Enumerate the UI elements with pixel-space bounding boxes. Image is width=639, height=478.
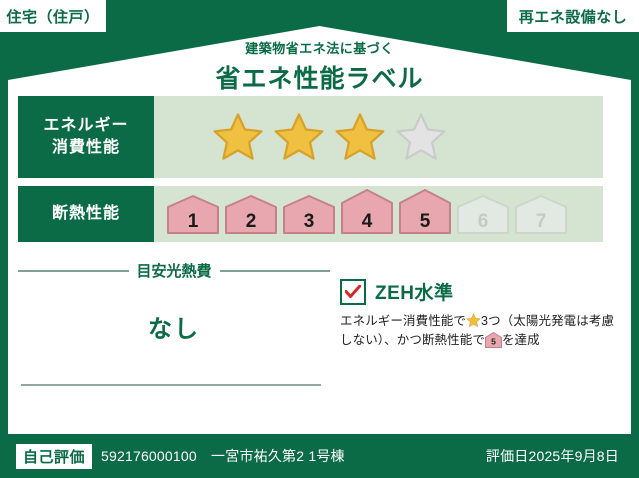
zeh-title: ZEH水準	[375, 278, 454, 305]
insulation-level-number: 7	[536, 211, 547, 232]
insulation-level-6: 6	[456, 195, 510, 235]
zeh-desc-star-count: 3つ（太陽光発電	[481, 314, 576, 328]
zeh-desc-part3: を達成	[502, 333, 540, 347]
badge-dwelling-type: 住宅（住戸）	[0, 0, 108, 34]
utility-cost-heading-text: 目安光熱費	[137, 260, 212, 281]
star-filled-icon	[273, 112, 325, 162]
svg-text:5: 5	[491, 337, 496, 347]
label-footer: 自己評価 592176000100 一宮市祐久第2 1号棟 評価日2025年9月…	[0, 434, 639, 478]
energy-performance-label: エネルギー 消費性能	[18, 96, 154, 178]
heading-rule-right	[220, 270, 331, 272]
badge-renewable-energy: 再エネ設備なし	[505, 0, 639, 34]
utility-cost-bottom-rule	[21, 384, 321, 386]
building-id-and-address: 592176000100 一宮市祐久第2 1号棟	[101, 446, 345, 466]
inline-star-icon	[466, 313, 481, 328]
zeh-desc-part1: エネルギー消費性能で	[340, 314, 466, 328]
zeh-column: ZEH水準 エネルギー消費性能で 3つ（太陽光発電は考慮しない）、かつ断熱性能で…	[340, 278, 615, 351]
energy-performance-row: エネルギー 消費性能	[18, 96, 603, 178]
insulation-level-5: 5	[398, 189, 452, 235]
star-filled-icon	[212, 112, 264, 162]
badge-renewable-energy-label: 再エネ設備なし	[519, 6, 628, 27]
evaluation-date: 評価日2025年9月8日	[486, 446, 619, 466]
page-title: 省エネ性能ラベル	[0, 59, 639, 95]
insulation-level-1: 1	[166, 195, 220, 235]
star-empty-icon	[395, 112, 447, 162]
star-filled-icon	[334, 112, 386, 162]
energy-performance-label-line2: 消費性能	[52, 139, 120, 156]
checkbox-icon	[340, 279, 366, 305]
utility-cost-heading: 目安光熱費	[18, 260, 330, 281]
insulation-performance-value: 1234567	[154, 186, 603, 242]
zeh-title-line: ZEH水準	[340, 278, 615, 305]
inline-house-icon: 5	[485, 332, 502, 348]
insulation-level-scale: 1234567	[166, 189, 568, 239]
insulation-level-number: 2	[246, 211, 257, 232]
insulation-performance-label-text: 断熱性能	[52, 203, 120, 225]
self-evaluation-badge: 自己評価	[16, 444, 92, 469]
label-card: エネルギー 消費性能 断熱性能 1234567 目安光熱費	[18, 96, 621, 426]
insulation-level-number: 1	[188, 211, 199, 232]
title-subtitle: 建築物省エネ法に基づく	[0, 38, 639, 57]
insulation-level-3: 3	[282, 195, 336, 235]
heading-rule-left	[18, 270, 129, 272]
badge-dwelling-type-label: 住宅（住戸）	[6, 6, 99, 27]
insulation-level-2: 2	[224, 195, 278, 235]
footer-left-group: 自己評価 592176000100 一宮市祐久第2 1号棟	[16, 444, 345, 469]
insulation-level-number: 6	[478, 211, 489, 232]
energy-performance-value	[154, 96, 603, 178]
insulation-performance-row: 断熱性能 1234567	[18, 186, 603, 242]
insulation-level-7: 7	[514, 195, 568, 235]
insulation-level-number: 5	[420, 211, 431, 232]
energy-performance-label: 住宅（住戸） 再エネ設備なし 建築物省エネ法に基づく 省エネ性能ラベル エネルギ…	[0, 0, 639, 478]
star-rating	[212, 112, 447, 162]
insulation-level-4: 4	[340, 189, 394, 235]
label-title-block: 建築物省エネ法に基づく 省エネ性能ラベル	[0, 38, 639, 95]
insulation-level-number: 3	[304, 211, 315, 232]
energy-performance-label-line1: エネルギー	[43, 117, 128, 134]
bottom-section: 目安光熱費 なし ZEH水準 エネルギー消費性能で	[18, 256, 621, 426]
zeh-description: エネルギー消費性能で 3つ（太陽光発電は考慮しない）、かつ断熱性能で 5 を達成	[340, 312, 615, 351]
insulation-level-number: 4	[362, 211, 373, 232]
insulation-performance-label: 断熱性能	[18, 186, 154, 242]
utility-cost-value: なし	[18, 309, 330, 344]
utility-cost-column: 目安光熱費 なし	[18, 256, 330, 344]
